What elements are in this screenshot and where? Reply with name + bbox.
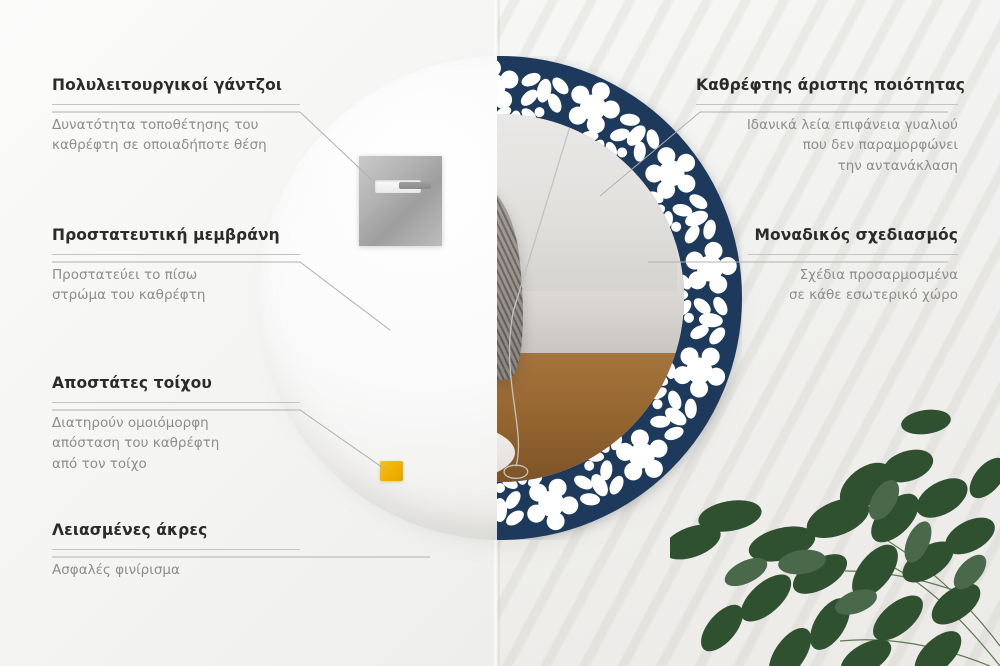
mirror-glass-reflection (497, 114, 684, 482)
callout-rule (52, 402, 300, 403)
callout-title: Μοναδικός σχεδιασμός (748, 226, 958, 245)
callout-wall-spacers: Αποστάτες τοίχου Διατηρούν ομοιόμορφηαπό… (52, 374, 300, 474)
callout-title: Λειασμένες άκρες (52, 521, 300, 540)
callout-rule (748, 254, 958, 255)
callout-title: Πολυλειτουργικοί γάντζοι (52, 76, 300, 95)
callout-unique-design: Μοναδικός σχεδιασμός Σχέδια προσαρμοσμέν… (748, 226, 958, 306)
callout-title: Προστατευτική μεμβράνη (52, 226, 300, 245)
callout-title: Καθρέφτης άριστης ποιότητας (696, 76, 958, 95)
callout-rule (52, 549, 300, 550)
callout-description: Ιδανικά λεία επιφάνεια γυαλιούπου δεν πα… (696, 115, 958, 177)
infographic-canvas: Πολυλειτουργικοί γάντζοι Δυνατότητα τοπο… (0, 0, 1000, 666)
callout-smoothed-edges: Λειασμένες άκρες Ασφαλές φινίρισμα (52, 521, 300, 580)
callout-multifunctional-hooks: Πολυλειτουργικοί γάντζοι Δυνατότητα τοπο… (52, 76, 300, 156)
mounting-hook-plate (359, 156, 442, 246)
callout-description: Ασφαλές φινίρισμα (52, 560, 300, 581)
foliage-decoration-icon (670, 366, 1000, 666)
callout-rule (52, 104, 300, 105)
callout-title: Αποστάτες τοίχου (52, 374, 300, 393)
hook-keyhole-slot (375, 180, 421, 193)
reflected-sofa-seat (497, 291, 684, 354)
callout-description: Σχέδια προσαρμοσμένασε κάθε εσωτερικό χώ… (748, 265, 958, 306)
callout-protective-membrane: Προστατευτική μεμβράνη Προστατεύει το πί… (52, 226, 300, 306)
callout-description: Διατηρούν ομοιόμορφηαπόσταση του καθρέφτ… (52, 413, 300, 475)
callout-top-quality-mirror: Καθρέφτης άριστης ποιότητας Ιδανικά λεία… (696, 76, 958, 176)
reflected-floor (497, 342, 684, 482)
callout-rule (696, 104, 958, 105)
callout-description: Προστατεύει το πίσωστρώμα του καθρέφτη (52, 265, 300, 306)
callout-description: Δυνατότητα τοποθέτησης τουκαθρέφτη σε οπ… (52, 115, 300, 156)
callout-rule (52, 254, 300, 255)
wall-spacer-pad (380, 461, 403, 481)
